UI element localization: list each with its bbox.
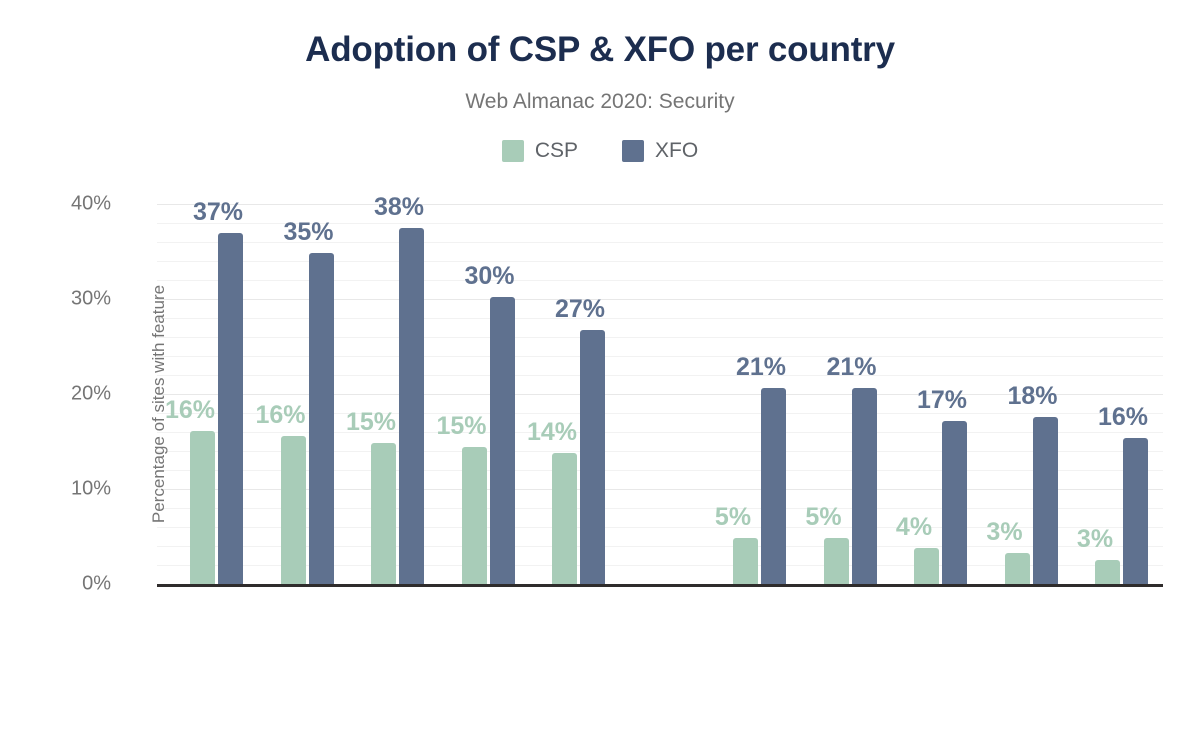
bar-csp[interactable]: [371, 443, 396, 584]
bar-csp[interactable]: [281, 436, 306, 584]
bar-group: 4%17%: [881, 84, 971, 584]
y-axis-tick-label: 30%: [21, 288, 111, 311]
bar-value-label: 38%: [359, 193, 439, 222]
bar-xfo[interactable]: [309, 253, 334, 584]
bar-value-label: 37%: [178, 198, 258, 227]
bar-group: 5%21%: [700, 84, 790, 584]
bar-csp[interactable]: [1005, 553, 1030, 584]
bar-value-label: 30%: [450, 262, 530, 291]
bar-csp[interactable]: [462, 447, 487, 584]
bar-xfo[interactable]: [218, 233, 243, 585]
y-axis-tick-label: 20%: [21, 383, 111, 406]
bar-group: [610, 84, 700, 584]
bar-xfo[interactable]: [942, 421, 967, 584]
bar-csp[interactable]: [552, 453, 577, 584]
bar-group: 5%21%: [791, 84, 881, 584]
bar-group: 15%30%: [429, 84, 519, 584]
bar-value-label: 35%: [269, 218, 349, 247]
y-axis-tick-label: 40%: [21, 193, 111, 216]
bar-group: 14%27%: [519, 84, 609, 584]
bar-xfo[interactable]: [761, 388, 786, 584]
plot-area: 0%10%20%30%40% Percentage of sites with …: [157, 204, 1163, 584]
bar-csp[interactable]: [190, 431, 215, 584]
bar-value-label: 27%: [540, 295, 620, 324]
y-axis-tick-label: 10%: [21, 478, 111, 501]
bar-xfo[interactable]: [1033, 417, 1058, 584]
bar-value-label: 16%: [1083, 403, 1163, 432]
bar-group: 3%18%: [972, 84, 1062, 584]
bar-xfo[interactable]: [580, 330, 605, 584]
bar-xfo[interactable]: [852, 388, 877, 584]
bar-value-label: 17%: [902, 386, 982, 415]
bar-group: 3%16%: [1062, 84, 1152, 584]
y-axis-tick-label: 0%: [21, 573, 111, 596]
bar-value-label: 18%: [993, 382, 1073, 411]
bar-group: 15%38%: [338, 84, 428, 584]
bar-csp[interactable]: [733, 538, 758, 584]
bar-csp[interactable]: [824, 538, 849, 584]
bar-csp[interactable]: [914, 548, 939, 584]
bar-xfo[interactable]: [399, 228, 424, 584]
chart-container: Adoption of CSP & XFO per country Web Al…: [0, 0, 1200, 742]
bar-xfo[interactable]: [1123, 438, 1148, 584]
bar-xfo[interactable]: [490, 297, 515, 584]
bar-value-label: 21%: [812, 353, 892, 382]
axis-baseline: [157, 584, 1163, 587]
bar-group: 16%37%: [157, 84, 247, 584]
chart-title: Adoption of CSP & XFO per country: [0, 30, 1200, 70]
bar-group: 16%35%: [248, 84, 338, 584]
bar-csp[interactable]: [1095, 560, 1120, 584]
bar-value-label: 21%: [721, 353, 801, 382]
